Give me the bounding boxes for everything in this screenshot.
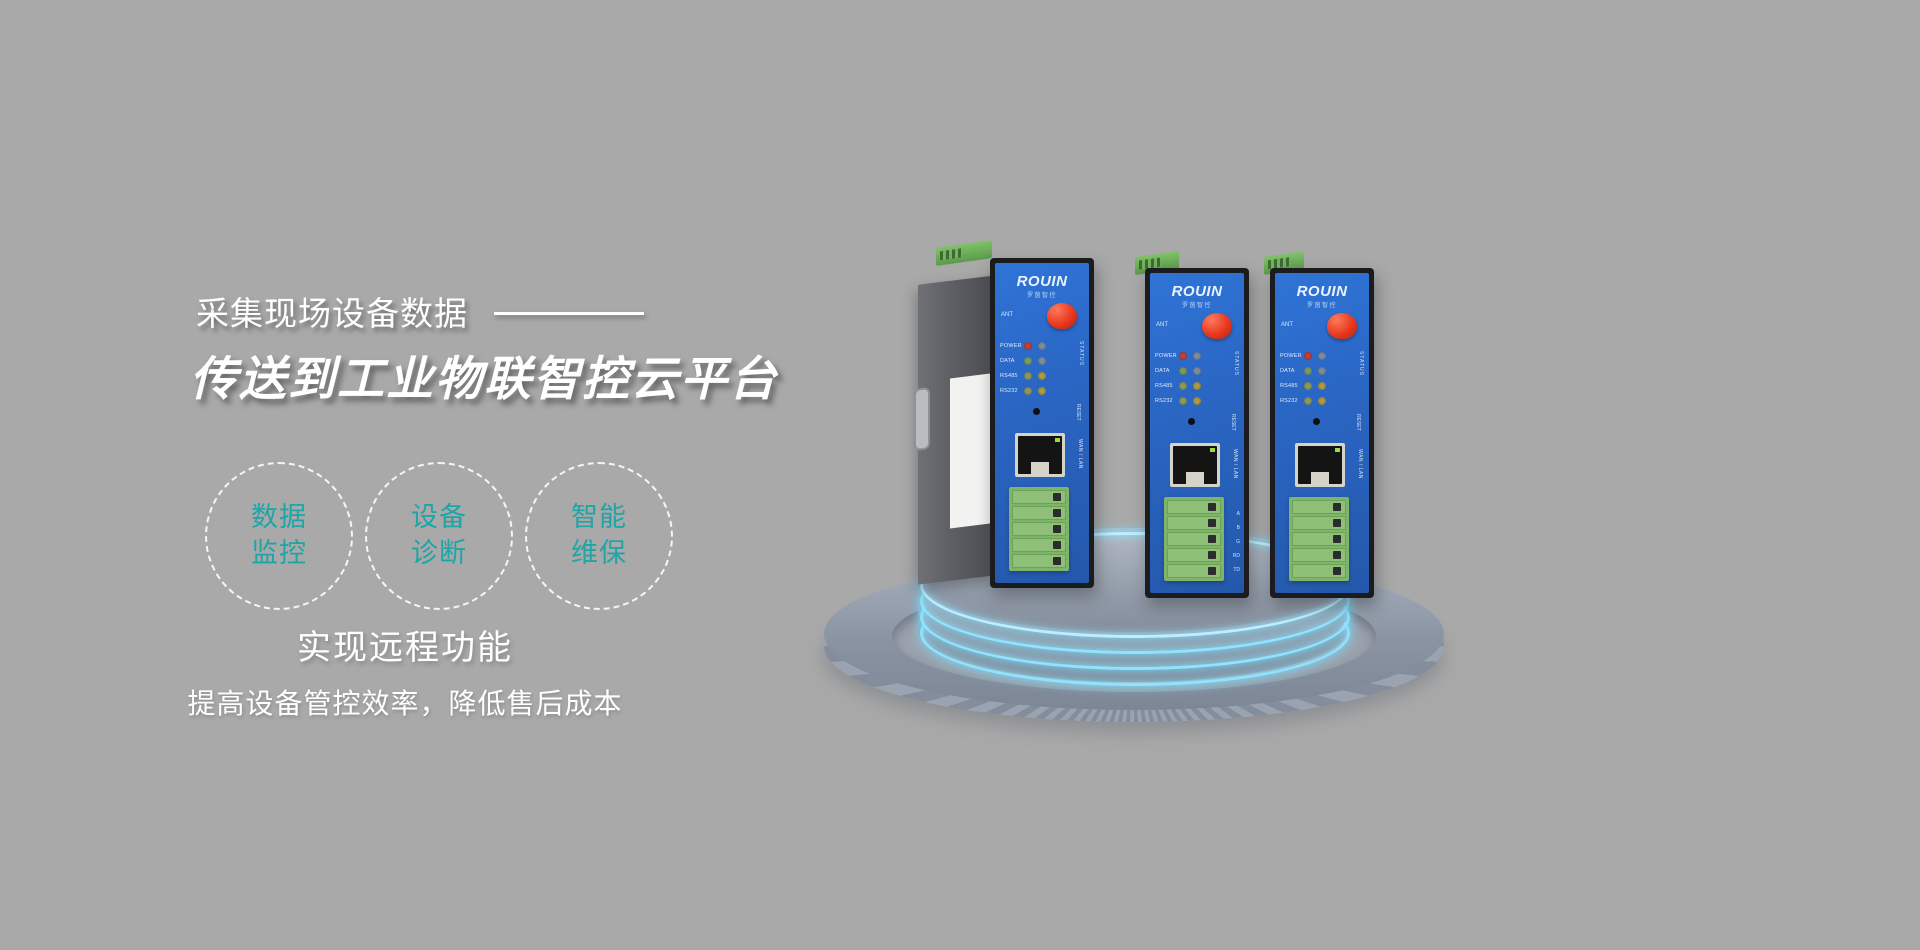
antenna-label: ANT <box>1281 322 1293 328</box>
led-row: POWER <box>1280 348 1362 363</box>
led-indicator-icon <box>1038 372 1046 380</box>
terminal-pin <box>1012 506 1066 520</box>
device-front-panel: ROUIN 罗茵智控 ANT POWER DATA <box>1150 273 1244 593</box>
feature-label-line1: 设备 <box>411 500 467 536</box>
feature-label-line1: 智能 <box>571 500 627 536</box>
footer-subhead: 实现远程功能 <box>0 620 810 669</box>
top-terminal-connector <box>936 240 992 266</box>
antenna-label: ANT <box>1001 312 1013 318</box>
led-label: DATA <box>1155 368 1179 374</box>
led-row: DATA <box>1280 363 1362 378</box>
device-front-bezel: ROUIN 罗茵智控 ANT POWER DATA <box>990 258 1094 588</box>
rj45-inner <box>1018 436 1062 474</box>
led-indicator-block: POWER DATA RS485 <box>1155 348 1237 408</box>
led-indicator-icon <box>1024 342 1032 350</box>
terminal-pin <box>1167 516 1221 530</box>
device-front-bezel: ROUIN 罗茵智控 ANT POWER DATA <box>1145 268 1249 598</box>
rj45-link-led-icon <box>1210 448 1215 452</box>
terminal-pin <box>1167 548 1221 562</box>
terminal-pin-labels: A B G RD TD <box>1233 507 1240 577</box>
feature-circle-data-monitoring[interactable]: 数据 监控 <box>205 462 353 610</box>
led-indicator-block: POWER DATA RS485 <box>1280 348 1362 408</box>
terminal-pin-label: A <box>1233 507 1240 521</box>
led-row: RS485 <box>1155 378 1237 393</box>
screw-terminal-block <box>1289 497 1349 581</box>
terminal-pin-label: RD <box>1233 549 1240 563</box>
feature-label-line2: 诊断 <box>411 536 467 572</box>
feature-circle-group: 数据 监控 设备 诊断 智能 维保 <box>205 462 673 610</box>
led-row: RS485 <box>1000 368 1082 383</box>
brand-subtitle: 罗茵智控 <box>1150 300 1244 309</box>
led-label: POWER <box>1280 353 1304 359</box>
brand-subtitle: 罗茵智控 <box>1275 300 1369 309</box>
brand-logo: ROUIN <box>1150 283 1244 300</box>
terminal-pin-label: G <box>1233 535 1240 549</box>
feature-circle-smart-maintenance[interactable]: 智能 维保 <box>525 462 673 610</box>
promo-banner: 采集现场设备数据 传送到工业物联智控云平台 数据 监控 设备 诊断 智能 维保 … <box>0 0 1920 950</box>
led-indicator-icon <box>1024 372 1032 380</box>
led-indicator-icon <box>1304 352 1312 360</box>
status-label: STATUS <box>1078 341 1084 366</box>
text-panel: 采集现场设备数据 传送到工业物联智控云平台 数据 监控 设备 诊断 智能 维保 … <box>0 0 880 950</box>
terminal-pin-label: B <box>1233 521 1240 535</box>
terminal-pin <box>1292 548 1346 562</box>
led-label: RS485 <box>1000 373 1024 379</box>
brand-subtitle: 罗茵智控 <box>995 290 1089 299</box>
feature-label-line2: 监控 <box>251 536 307 572</box>
rj45-link-led-icon <box>1055 438 1060 442</box>
led-indicator-block: POWER DATA RS485 <box>1000 338 1082 398</box>
led-indicator-icon <box>1318 397 1326 405</box>
led-label: DATA <box>1280 368 1304 374</box>
din-rail-clip <box>914 387 930 451</box>
antenna-connector-icon <box>1047 303 1077 329</box>
lan-port-label: WAN / LAN <box>1232 449 1238 479</box>
headline-main: 传送到工业物联智控云平台 <box>190 340 778 409</box>
led-indicator-icon <box>1179 367 1187 375</box>
led-indicator-icon <box>1304 397 1312 405</box>
led-indicator-icon <box>1179 382 1187 390</box>
led-label: RS232 <box>1155 398 1179 404</box>
rj45-inner <box>1173 446 1217 484</box>
terminal-pin <box>1012 522 1066 536</box>
led-indicator-icon <box>1318 352 1326 360</box>
rj45-ethernet-port-icon <box>1295 443 1345 487</box>
led-indicator-icon <box>1179 397 1187 405</box>
led-indicator-icon <box>1318 367 1326 375</box>
terminal-pin <box>1292 516 1346 530</box>
terminal-pin <box>1012 554 1066 568</box>
device-spec-label <box>950 374 990 529</box>
reset-label: RESET <box>1230 414 1236 431</box>
footer-tagline: 提高设备管控效率，降低售后成本 <box>0 682 810 722</box>
rj45-inner <box>1298 446 1342 484</box>
led-indicator-icon <box>1193 382 1201 390</box>
reset-button-icon[interactable] <box>1188 418 1195 425</box>
led-row: RS485 <box>1280 378 1362 393</box>
led-label: RS485 <box>1155 383 1179 389</box>
led-label: POWER <box>1000 343 1024 349</box>
reset-label: RESET <box>1075 404 1081 421</box>
led-indicator-icon <box>1038 357 1046 365</box>
led-row: DATA <box>1000 353 1082 368</box>
lan-port-label: WAN / LAN <box>1077 439 1083 469</box>
led-row: RS232 <box>1280 393 1362 408</box>
terminal-pin <box>1012 538 1066 552</box>
led-label: RS232 <box>1000 388 1024 394</box>
headline-eyebrow-row: 采集现场设备数据 <box>196 297 644 330</box>
lan-port-label: WAN / LAN <box>1357 449 1363 479</box>
device-front-bezel: ROUIN 罗茵智控 ANT POWER DATA <box>1270 268 1374 598</box>
reset-button-icon[interactable] <box>1033 408 1040 415</box>
led-indicator-icon <box>1038 387 1046 395</box>
led-label: RS232 <box>1280 398 1304 404</box>
feature-circle-device-diagnostics[interactable]: 设备 诊断 <box>365 462 513 610</box>
terminal-pin <box>1012 490 1066 504</box>
terminal-pin <box>1167 500 1221 514</box>
headline-divider-rule <box>494 312 644 315</box>
led-indicator-icon <box>1193 367 1201 375</box>
led-label: POWER <box>1155 353 1179 359</box>
led-indicator-icon <box>1038 342 1046 350</box>
antenna-connector-icon <box>1327 313 1357 339</box>
antenna-connector-icon <box>1202 313 1232 339</box>
terminal-pin-label: TD <box>1233 563 1240 577</box>
reset-button-icon[interactable] <box>1313 418 1320 425</box>
led-indicator-icon <box>1024 357 1032 365</box>
antenna-label: ANT <box>1156 322 1168 328</box>
device-front-panel: ROUIN 罗茵智控 ANT POWER DATA <box>995 263 1089 583</box>
led-row: POWER <box>1155 348 1237 363</box>
led-row: RS232 <box>1000 383 1082 398</box>
reset-label: RESET <box>1355 414 1361 431</box>
led-indicator-icon <box>1304 382 1312 390</box>
led-indicator-icon <box>1318 382 1326 390</box>
product-scene: ROUIN 罗茵智控 ANT POWER DATA <box>800 180 1560 740</box>
terminal-pin <box>1292 500 1346 514</box>
led-indicator-icon <box>1193 397 1201 405</box>
led-row: DATA <box>1155 363 1237 378</box>
screw-terminal-block <box>1164 497 1224 581</box>
led-label: RS485 <box>1280 383 1304 389</box>
led-indicator-icon <box>1304 367 1312 375</box>
terminal-pin <box>1292 532 1346 546</box>
rj45-ethernet-port-icon <box>1015 433 1065 477</box>
status-label: STATUS <box>1233 351 1239 376</box>
rj45-ethernet-port-icon <box>1170 443 1220 487</box>
headline-eyebrow: 采集现场设备数据 <box>196 297 468 330</box>
brand-logo: ROUIN <box>1275 283 1369 300</box>
terminal-pin <box>1292 564 1346 578</box>
rj45-link-led-icon <box>1335 448 1340 452</box>
screw-terminal-block <box>1009 487 1069 571</box>
led-row: POWER <box>1000 338 1082 353</box>
led-row: RS232 <box>1155 393 1237 408</box>
brand-logo: ROUIN <box>995 273 1089 290</box>
terminal-pin <box>1167 532 1221 546</box>
device-front-panel: ROUIN 罗茵智控 ANT POWER DATA <box>1275 273 1369 593</box>
led-indicator-icon <box>1179 352 1187 360</box>
led-label: DATA <box>1000 358 1024 364</box>
led-indicator-icon <box>1193 352 1201 360</box>
led-indicator-icon <box>1024 387 1032 395</box>
feature-label-line2: 维保 <box>571 536 627 572</box>
feature-label-line1: 数据 <box>251 500 307 536</box>
status-label: STATUS <box>1358 351 1364 376</box>
terminal-pin <box>1167 564 1221 578</box>
